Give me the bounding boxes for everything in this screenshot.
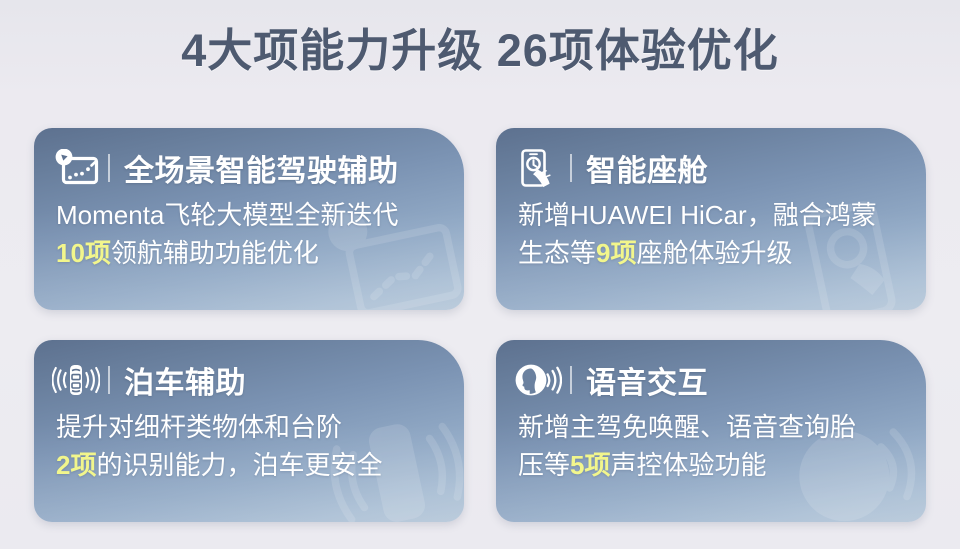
card-body-line: 新增HUAWEI HiCar，融合鸿蒙 xyxy=(518,196,926,234)
card-header: 全场景智能驾驶辅助 xyxy=(34,128,464,190)
card-body-line: 2项的识别能力，泊车更安全 xyxy=(56,446,464,484)
line-post: 领航辅助功能优化 xyxy=(111,238,319,268)
line-post: 新增HUAWEI HiCar，融合鸿蒙 xyxy=(518,200,877,230)
feature-card-voice-interaction[interactable]: 语音交互 新增主驾免唤醒、语音查询胎 压等5项声控体验功能 xyxy=(496,340,926,522)
card-header: 语音交互 xyxy=(496,340,926,402)
line-post: Momenta飞轮大模型全新迭代 xyxy=(56,200,398,230)
slide-root: 4大项能力升级 26项体验优化 xyxy=(0,0,960,549)
feature-card-smart-cockpit[interactable]: 智能座舱 新增HUAWEI HiCar，融合鸿蒙 生态等9项座舱体验升级 xyxy=(496,128,926,310)
card-title: 全场景智能驾驶辅助 xyxy=(124,146,399,190)
smartphone-touch-icon xyxy=(514,147,562,189)
card-body: 新增主驾免唤醒、语音查询胎 压等5项声控体验功能 xyxy=(496,402,926,484)
card-title: 泊车辅助 xyxy=(124,358,246,402)
card-body-line: 10项领航辅助功能优化 xyxy=(56,234,464,272)
page-title: 4大项能力升级 26项体验优化 xyxy=(0,14,960,79)
car-parking-sensor-icon xyxy=(52,359,100,401)
line-post: 的识别能力，泊车更安全 xyxy=(96,450,382,480)
card-body-line: 新增主驾免唤醒、语音查询胎 xyxy=(518,408,926,446)
card-header: 智能座舱 xyxy=(496,128,926,190)
line-highlight: 9项 xyxy=(596,238,636,268)
card-body-line: 生态等9项座舱体验升级 xyxy=(518,234,926,272)
line-highlight: 10项 xyxy=(56,238,111,268)
line-pre: 压等 xyxy=(518,450,570,480)
line-post: 座舱体验升级 xyxy=(636,238,792,268)
card-title: 语音交互 xyxy=(586,358,708,402)
header-divider xyxy=(570,154,572,182)
card-body: 提升对细杆类物体和台阶 2项的识别能力，泊车更安全 xyxy=(34,402,464,484)
card-header: 泊车辅助 xyxy=(34,340,464,402)
card-body: Momenta飞轮大模型全新迭代 10项领航辅助功能优化 xyxy=(34,190,464,272)
line-post: 新增主驾免唤醒、语音查询胎 xyxy=(518,412,856,442)
line-highlight: 5项 xyxy=(570,450,610,480)
card-body-line: 压等5项声控体验功能 xyxy=(518,446,926,484)
header-divider xyxy=(108,366,110,394)
card-body-line: Momenta飞轮大模型全新迭代 xyxy=(56,196,464,234)
feature-card-driving-assist[interactable]: 全场景智能驾驶辅助 Momenta飞轮大模型全新迭代 10项领航辅助功能优化 xyxy=(34,128,464,310)
line-pre: 生态等 xyxy=(518,238,596,268)
line-highlight: 2项 xyxy=(56,450,96,480)
header-divider xyxy=(108,154,110,182)
feature-card-grid: 全场景智能驾驶辅助 Momenta飞轮大模型全新迭代 10项领航辅助功能优化 xyxy=(34,128,926,522)
header-divider xyxy=(570,366,572,394)
feature-card-parking-assist[interactable]: 泊车辅助 提升对细杆类物体和台阶 2项的识别能力，泊车更安全 xyxy=(34,340,464,522)
line-post: 声控体验功能 xyxy=(610,450,766,480)
card-body: 新增HUAWEI HiCar，融合鸿蒙 生态等9项座舱体验升级 xyxy=(496,190,926,272)
card-body-line: 提升对细杆类物体和台阶 xyxy=(56,408,464,446)
card-title: 智能座舱 xyxy=(586,146,708,190)
line-post: 提升对细杆类物体和台阶 xyxy=(56,412,342,442)
navigation-route-icon xyxy=(52,147,100,189)
voice-speaking-head-icon xyxy=(514,359,562,401)
